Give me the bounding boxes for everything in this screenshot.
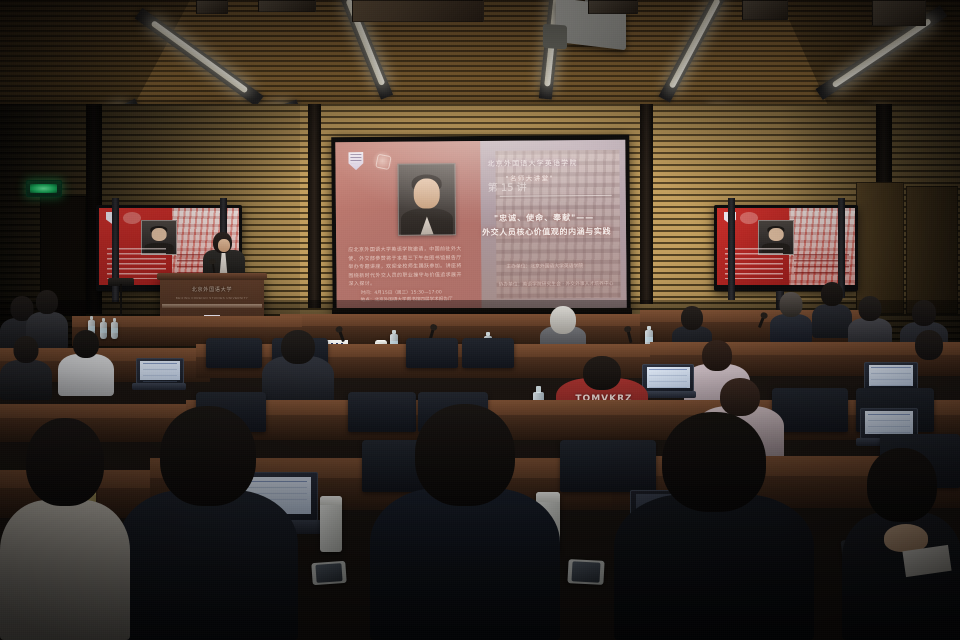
foreground-attendee bbox=[370, 404, 560, 640]
exit-icon bbox=[30, 184, 57, 193]
monitor-right-stand bbox=[728, 198, 735, 300]
thermos-flask[interactable] bbox=[320, 496, 342, 552]
podium-trim-band bbox=[162, 304, 262, 308]
foreground-attendee bbox=[118, 406, 298, 640]
wall-picture bbox=[588, 0, 638, 14]
seat-backrest[interactable] bbox=[206, 338, 262, 368]
monitor-left-stand bbox=[112, 198, 119, 302]
foreground-attendee bbox=[614, 412, 814, 640]
lecture-hall-photograph: 应北京外国语大学英语学院邀请，中国前驻外大使、外交部参赞将于本周三下午在图书馆报… bbox=[0, 0, 960, 640]
screen-hotspot-glow bbox=[335, 140, 626, 227]
audience-member bbox=[262, 330, 334, 408]
emergency-exit-sign bbox=[26, 180, 62, 197]
monitor-right-display bbox=[717, 208, 855, 285]
wall-picture bbox=[352, 0, 484, 22]
projection-screen-surface: 应北京外国语大学英语学院邀请，中国前驻外大使、外交部参赞将于本周三下午在图书馆报… bbox=[335, 140, 626, 311]
audience-member bbox=[0, 336, 52, 400]
side-monitor-right bbox=[714, 205, 858, 291]
seat-backrest[interactable] bbox=[406, 338, 458, 368]
audience-member bbox=[770, 292, 812, 344]
attendee-laptop[interactable] bbox=[642, 364, 692, 398]
audience-member bbox=[58, 330, 114, 396]
foreground-attendee bbox=[0, 418, 130, 640]
wall-picture bbox=[258, 0, 316, 12]
seat-backrest[interactable] bbox=[462, 338, 514, 368]
smartphone[interactable] bbox=[567, 559, 604, 585]
wall-picture bbox=[742, 0, 788, 20]
podium-nameplate-subtitle: BEIJING FOREIGN STUDIES UNIVERSITY bbox=[168, 296, 256, 300]
audience-member bbox=[812, 282, 852, 338]
podium-top-surface bbox=[157, 273, 267, 280]
monitor-seal-icon bbox=[123, 212, 141, 224]
wall-picture bbox=[196, 0, 228, 14]
projection-screen: 应北京外国语大学英语学院邀请，中国前驻外大使、外交部参赞将于本周三下午在图书馆报… bbox=[331, 135, 631, 316]
smartphone[interactable] bbox=[311, 561, 346, 585]
attendee-laptop[interactable] bbox=[136, 358, 182, 390]
wall-picture bbox=[872, 0, 926, 26]
